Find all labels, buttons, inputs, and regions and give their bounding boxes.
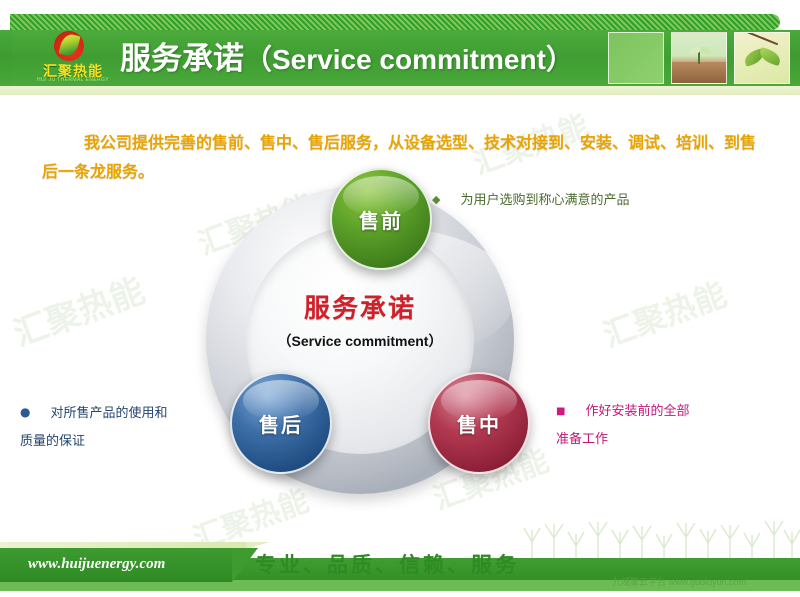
diagram-node-post-sale[interactable]: 售后 bbox=[230, 372, 332, 474]
annotation-pre-sale-line1: 为用户选购到称心满意的产品 bbox=[460, 193, 629, 208]
diagram-node-post-sale-label: 售后 bbox=[259, 409, 303, 438]
slide-header: 汇聚热能 HUI JU THERMAL ENERGY 服务承诺（Service … bbox=[0, 0, 800, 105]
diamond-bullet-icon: ◆ bbox=[432, 186, 440, 214]
page-title-en: （Service commitment） bbox=[244, 44, 574, 75]
annotation-post-sale: ●对所售产品的使用和 质量的保证 bbox=[20, 398, 210, 456]
leaf-right-icon bbox=[757, 46, 782, 65]
header-hatch-decoration bbox=[10, 14, 780, 30]
footer-slogan: 专业、品质、信赖、服务 bbox=[255, 549, 519, 579]
background-watermark: 汇聚热能 bbox=[596, 269, 732, 356]
sprout-in-soil-thumbnail bbox=[671, 32, 727, 84]
annotation-mid-sale-line2: 准备工作 bbox=[556, 426, 776, 454]
footer-white-base bbox=[0, 591, 800, 597]
blank-green-thumbnail bbox=[608, 32, 664, 84]
diagram-center-title-cn: 服务承诺 bbox=[244, 288, 476, 325]
diagram-node-pre-sale-label: 售前 bbox=[359, 205, 403, 234]
diagram-center-label: 服务承诺 （Service commitment） bbox=[244, 288, 476, 351]
diagram-node-mid-sale-label: 售中 bbox=[457, 409, 501, 438]
sun-leaf-logo-icon bbox=[54, 31, 84, 61]
footer-source-watermark: 九域聚云平台 www.guoluyun.com bbox=[612, 575, 746, 588]
soil-icon bbox=[672, 62, 726, 83]
annotation-mid-sale-line1: 作好安装前的全部 bbox=[585, 404, 689, 419]
background-watermark: 汇聚热能 bbox=[6, 263, 151, 356]
branch-icon bbox=[746, 32, 778, 45]
circle-bullet-icon: ● bbox=[20, 398, 30, 426]
header-underline-strip bbox=[0, 86, 800, 95]
footer-website-url[interactable]: www.huijuenergy.com bbox=[28, 556, 165, 573]
company-logo[interactable]: 汇聚热能 HUI JU THERMAL ENERGY bbox=[24, 30, 122, 86]
slide-canvas: 汇聚热能 汇聚热能 汇聚热能 汇聚热能 汇聚热能 汇聚热能 汇聚热能 HUI J… bbox=[0, 0, 800, 597]
sprout-leaf-right-icon bbox=[700, 47, 711, 54]
annotation-post-sale-line2: 质量的保证 bbox=[20, 428, 210, 456]
annotation-post-sale-line1: 对所售产品的使用和 bbox=[50, 406, 167, 421]
leaf-shape-icon bbox=[58, 32, 80, 58]
page-title: 服务承诺（Service commitment） bbox=[120, 33, 574, 78]
annotation-mid-sale: ■作好安装前的全部 准备工作 bbox=[556, 398, 776, 454]
page-title-cn: 服务承诺 bbox=[120, 41, 244, 77]
header-underline-strip-2 bbox=[0, 95, 800, 99]
square-bullet-icon: ■ bbox=[556, 398, 565, 426]
diagram-node-mid-sale[interactable]: 售中 bbox=[428, 372, 530, 474]
header-thumbnail-strip bbox=[608, 32, 792, 84]
diagram-node-pre-sale[interactable]: 售前 bbox=[330, 168, 432, 270]
green-leaves-thumbnail bbox=[734, 32, 790, 84]
logo-company-name-en: HUI JU THERMAL ENERGY bbox=[24, 77, 122, 83]
diagram-center-title-en: （Service commitment） bbox=[244, 331, 476, 351]
annotation-pre-sale: ◆为用户选购到称心满意的产品 bbox=[432, 186, 732, 215]
service-commitment-diagram: 服务承诺 （Service commitment） 售前 售后 售中 bbox=[178, 168, 602, 512]
